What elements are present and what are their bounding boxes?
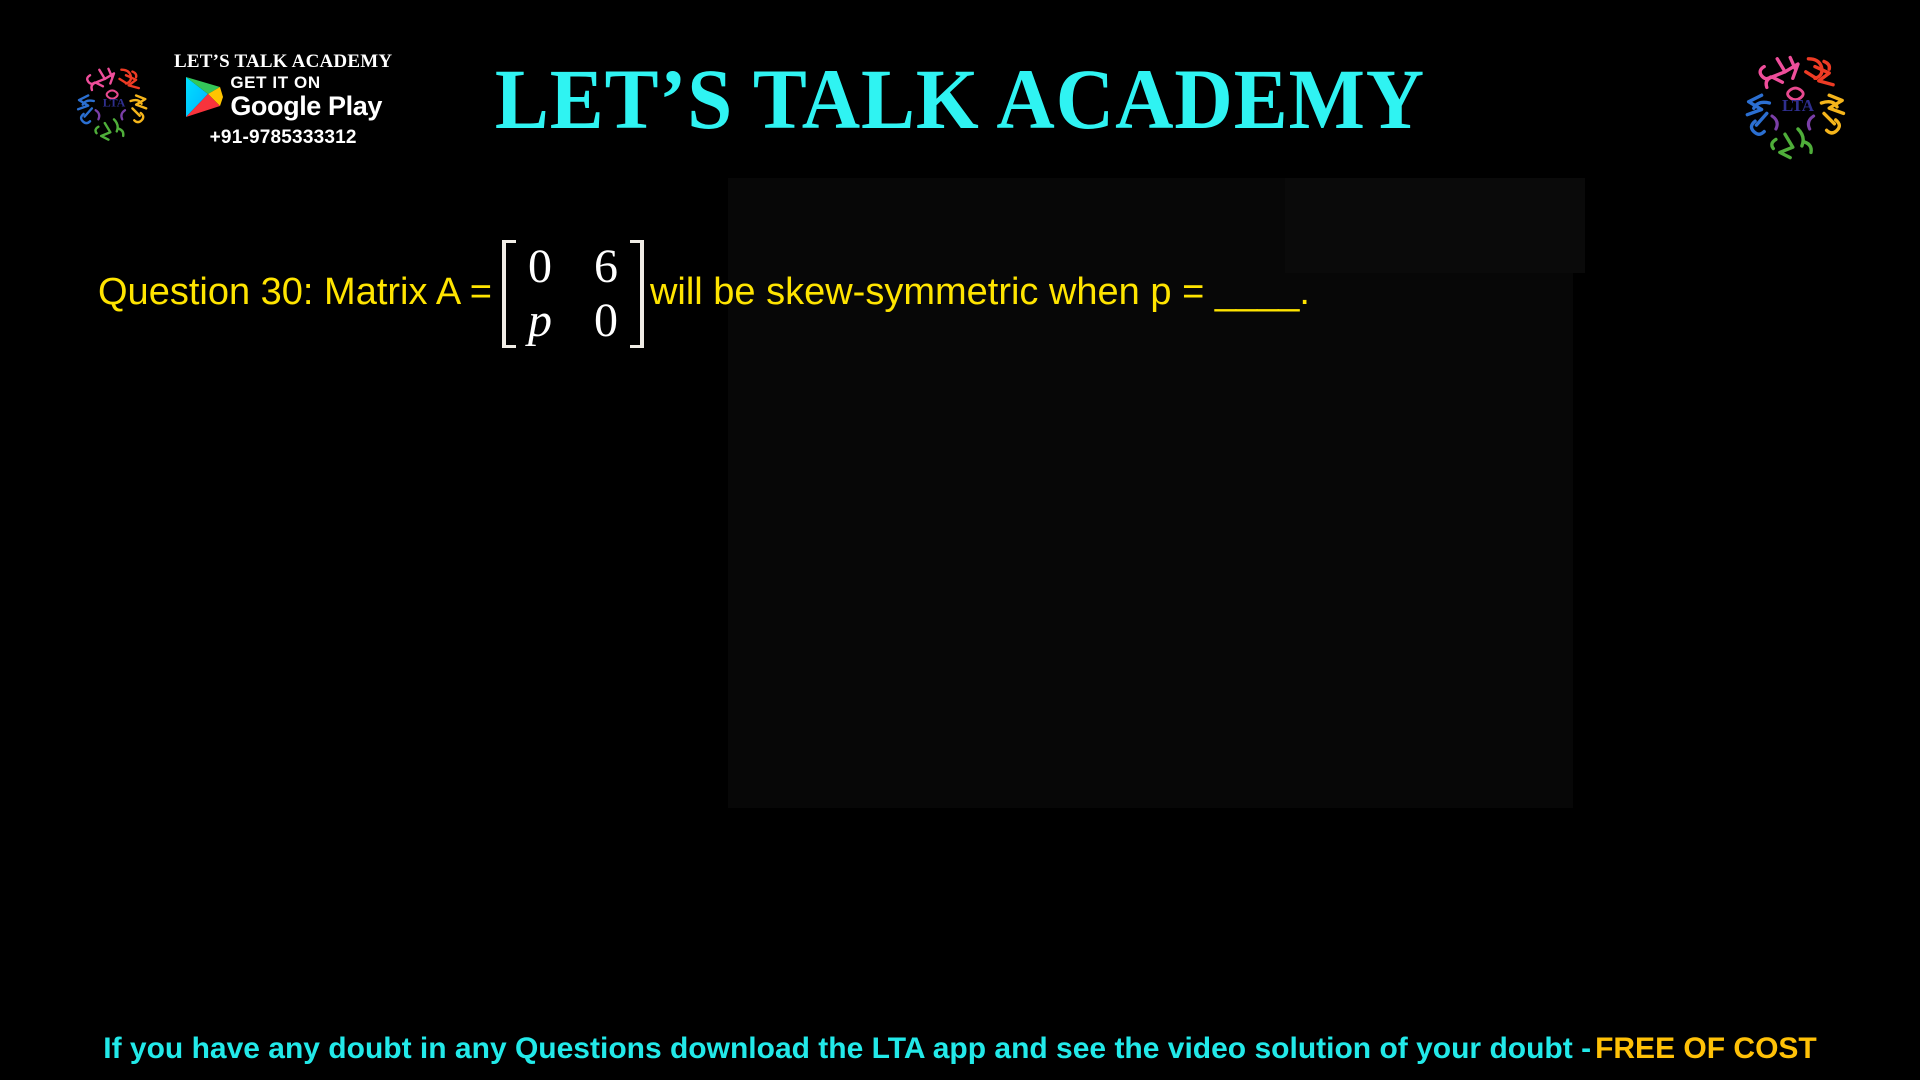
matrix-grid: 0 6 p 0 [516, 240, 630, 348]
matrix-cell-r1c0: p [528, 294, 552, 348]
footer-banner: If you have any doubt in any Questions d… [0, 1034, 1920, 1064]
question-statement: Question 30: Matrix A = 0 6 p 0 will be … [98, 238, 1310, 346]
footer-message: If you have any doubt in any Questions d… [103, 1032, 1591, 1065]
matrix-cell-r0c0: 0 [528, 240, 552, 294]
footer-accent-label: FREE OF COST [1595, 1032, 1817, 1065]
svg-text:LTA: LTA [1782, 96, 1815, 115]
matrix-bracket-left [502, 240, 516, 348]
matrix-cell-r1c1: 0 [594, 294, 618, 348]
page-header: LTA LET’S TALK ACADEMY [0, 0, 1920, 178]
brand-right-cluster: LTA [1733, 38, 1863, 168]
matrix-bracket-right [630, 240, 644, 348]
matrix-a: 0 6 p 0 [502, 240, 644, 348]
page-title: LET’S TALK ACADEMY [58, 56, 1863, 142]
matrix-cell-r0c1: 6 [594, 240, 618, 294]
background-panel-secondary [1285, 178, 1585, 273]
lta-logo-icon: LTA [1733, 38, 1863, 168]
question-suffix: will be skew-symmetric when p = ____. [650, 273, 1310, 311]
question-label: Question 30: Matrix A = [98, 273, 492, 311]
